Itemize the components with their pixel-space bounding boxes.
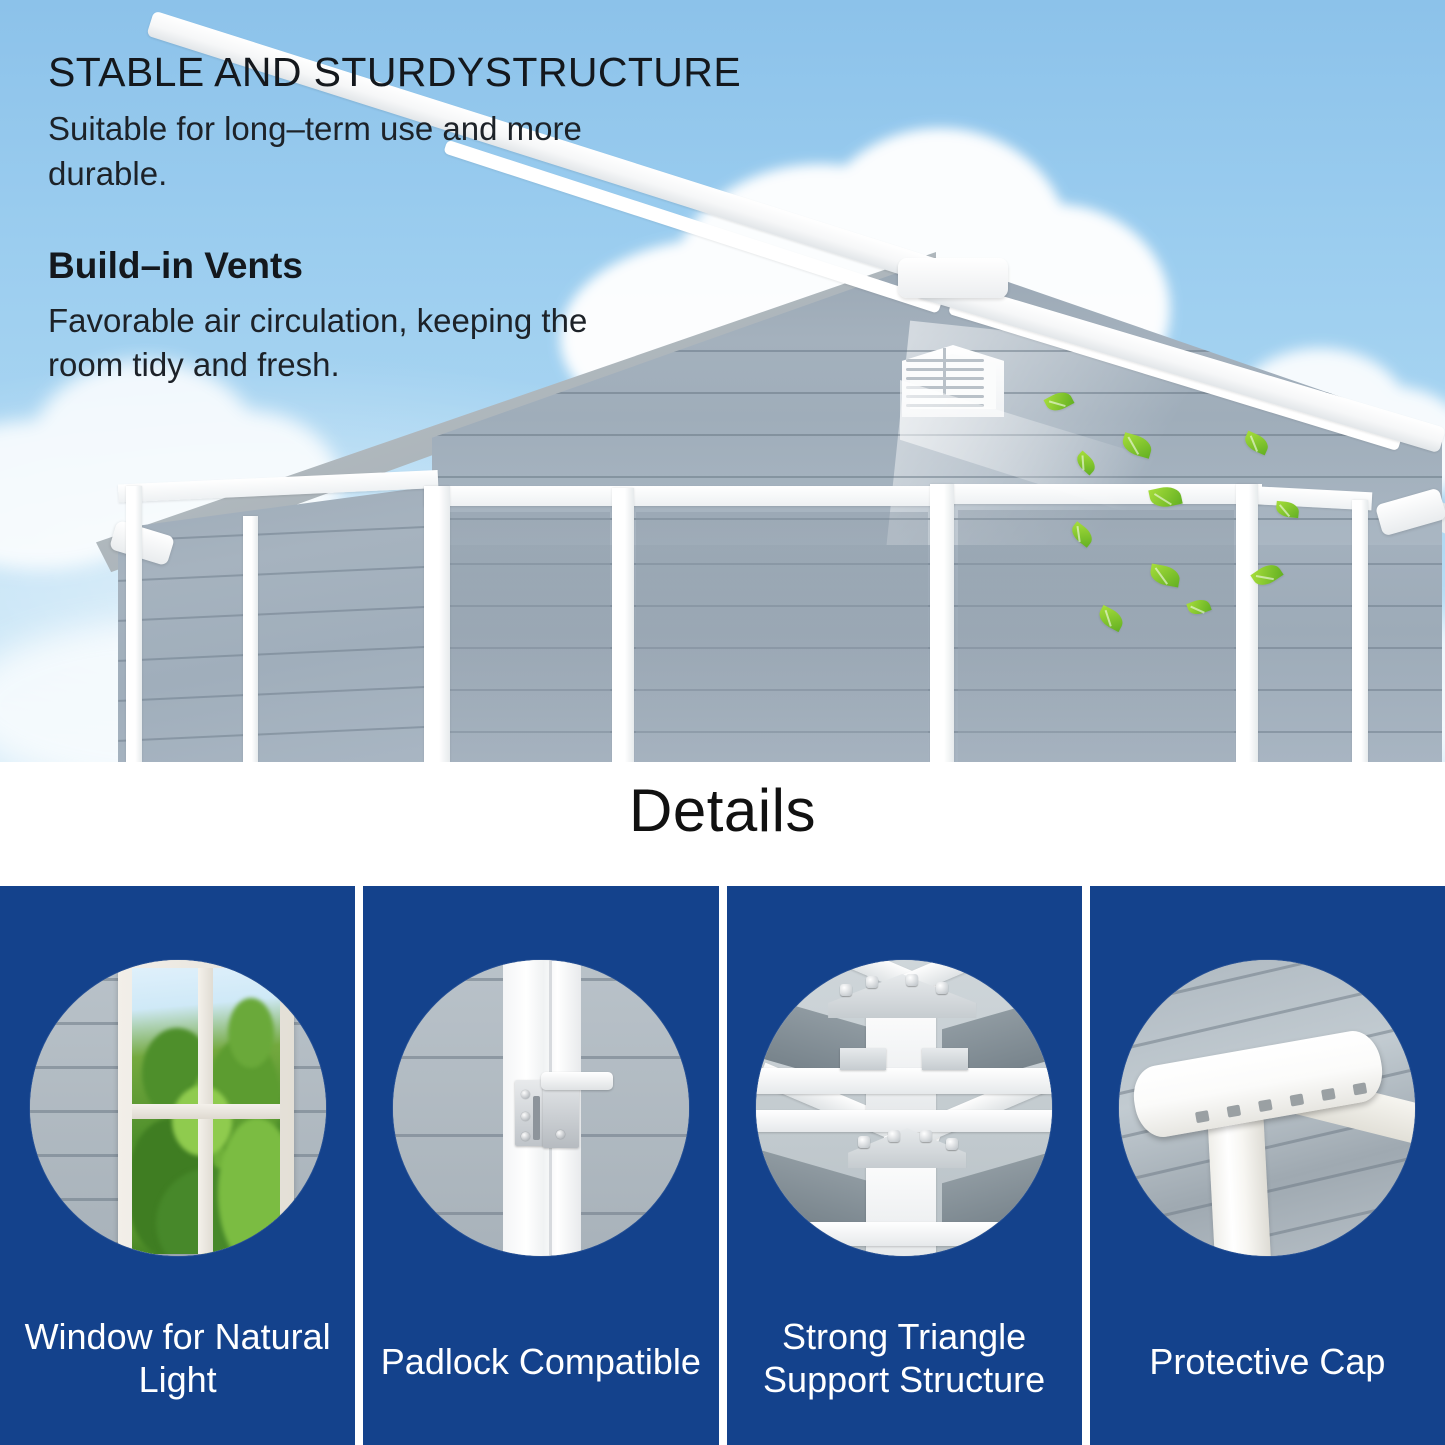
detail-photo-window <box>30 960 326 1256</box>
wall-trim-post <box>1236 484 1258 762</box>
wall-trim-post <box>930 484 954 762</box>
detail-photo-cap <box>1119 960 1415 1256</box>
door-panel <box>450 512 610 762</box>
detail-panel-caption: Strong Triangle Support Structure <box>737 1316 1072 1401</box>
feature-2-body: Favorable air circulation, keeping the r… <box>48 299 628 388</box>
wall-trim-post <box>126 486 142 762</box>
detail-photo-truss <box>756 960 1052 1256</box>
detail-panel-padlock[interactable]: Padlock Compatible <box>363 886 718 1445</box>
detail-panel-window[interactable]: Window for Natural Light <box>0 886 355 1445</box>
cross-beam <box>756 1068 1052 1094</box>
detail-panel-caption: Padlock Compatible <box>373 1341 708 1383</box>
window-frame <box>118 960 294 1254</box>
details-band: Details <box>0 762 1445 886</box>
detail-photo-padlock <box>393 960 689 1256</box>
feature-1-heading: STABLE AND STURDYSTRUCTURE <box>48 50 748 95</box>
padlock-hasp-arm <box>541 1072 613 1090</box>
cross-beam <box>756 1222 1052 1246</box>
detail-panel-truss[interactable]: Strong Triangle Support Structure <box>727 886 1082 1445</box>
product-feature-image: STABLE AND STURDYSTRUCTURE Suitable for … <box>0 0 1445 1445</box>
roof-ridge-cap <box>898 258 1008 298</box>
hero-section: STABLE AND STURDYSTRUCTURE Suitable for … <box>0 0 1445 762</box>
door-panel <box>636 512 928 762</box>
cross-beam <box>756 1110 1052 1132</box>
wall-trim-post <box>1352 500 1368 762</box>
wall-header-rail <box>424 486 954 506</box>
hero-copy: STABLE AND STURDYSTRUCTURE Suitable for … <box>48 50 748 388</box>
door-panel <box>958 510 1234 762</box>
wall-trim-post <box>424 486 450 762</box>
detail-panel-cap[interactable]: Protective Cap <box>1090 886 1445 1445</box>
feature-2-heading: Build–in Vents <box>48 246 748 287</box>
details-title: Details <box>0 776 1445 845</box>
wall-trim-post <box>243 516 258 762</box>
detail-panel-caption: Window for Natural Light <box>10 1316 345 1401</box>
wall-header-rail <box>952 484 1262 504</box>
wall-trim-post <box>612 488 634 762</box>
feature-1-body: Suitable for long–term use and more dura… <box>48 107 673 196</box>
detail-panel-caption: Protective Cap <box>1100 1341 1435 1383</box>
details-panel-row: Window for Natural Light Padlock Compati… <box>0 886 1445 1445</box>
